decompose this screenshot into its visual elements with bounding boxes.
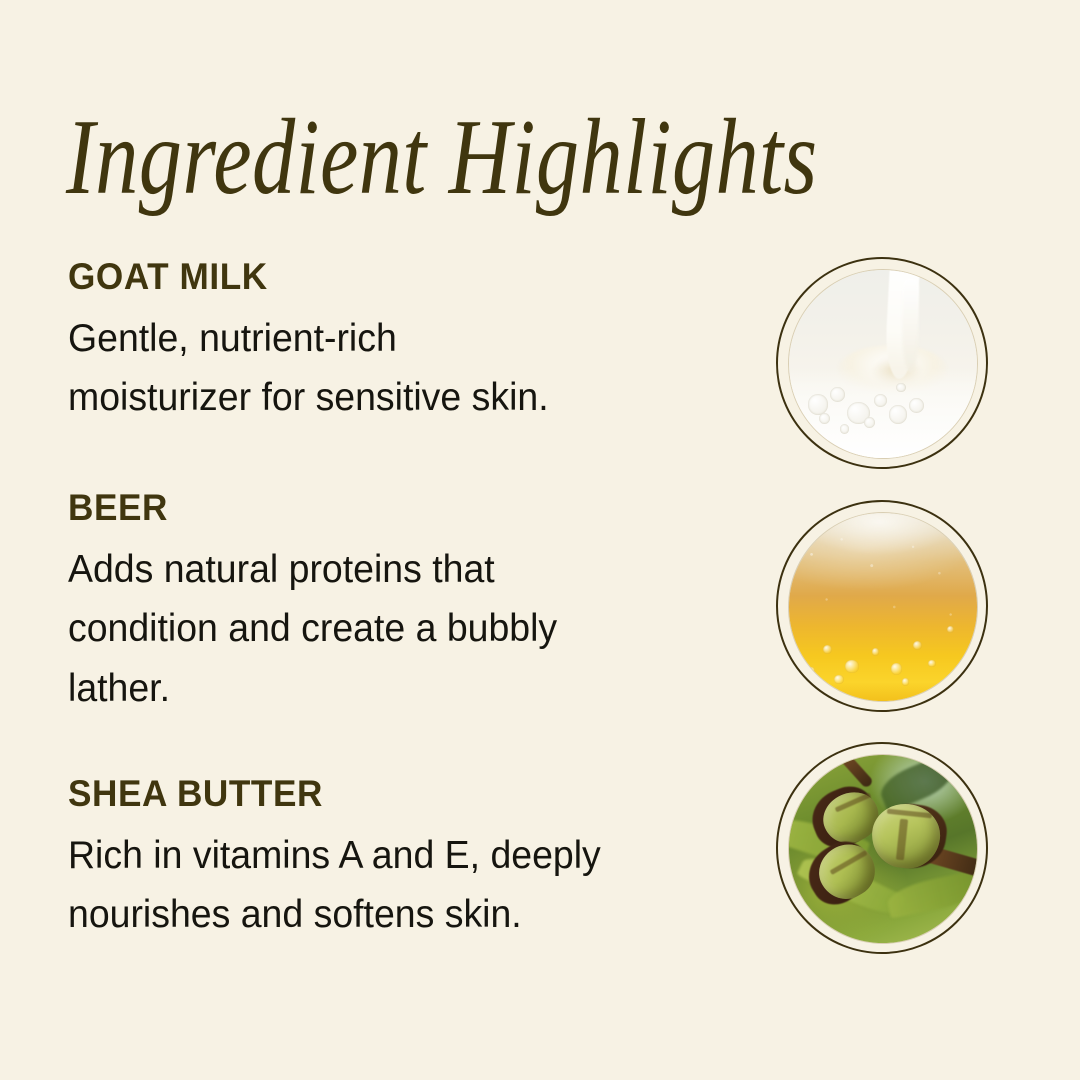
ingredient-description-goat-milk: Gentle, nutrient-rich moisturizer for se… xyxy=(68,309,759,428)
ingredient-heading-goat-milk: GOAT MILK xyxy=(68,256,752,298)
ingredient-heading-shea-butter: SHEA BUTTER xyxy=(68,773,752,815)
ingredient-section-beer: BEER Adds natural proteins that conditio… xyxy=(68,487,788,718)
beer-artwork xyxy=(789,513,977,701)
ingredient-section-shea-butter: SHEA BUTTER Rich in vitamins A and E, de… xyxy=(68,773,788,945)
ingredient-highlights-poster: Ingredient Highlights GOAT MILK Gentle, … xyxy=(0,0,1080,1080)
beer-texture xyxy=(789,513,977,701)
ingredient-section-goat-milk: GOAT MILK Gentle, nutrient-rich moisturi… xyxy=(68,256,788,428)
description-line: Gentle, nutrient-rich xyxy=(68,309,759,368)
shea-artwork xyxy=(789,755,977,943)
beer-photo-ring xyxy=(776,500,988,712)
description-line: nourishes and softens skin. xyxy=(68,885,759,944)
milk-artwork xyxy=(789,270,977,458)
page-title: Ingredient Highlights xyxy=(66,104,786,212)
ingredient-description-beer: Adds natural proteins that condition and… xyxy=(68,540,759,718)
description-line: Adds natural proteins that xyxy=(68,540,759,599)
milk-pour-stream-secondary xyxy=(902,278,919,372)
shea-nuts-photo-ring xyxy=(776,742,988,954)
shea-nuts-photo xyxy=(789,755,977,943)
ingredient-heading-beer: BEER xyxy=(68,487,752,529)
goat-milk-photo-ring xyxy=(776,257,988,469)
goat-milk-photo xyxy=(789,270,977,458)
ingredient-description-shea-butter: Rich in vitamins A and E, deeply nourish… xyxy=(68,826,759,945)
description-line: moisturizer for sensitive skin. xyxy=(68,368,759,427)
description-line: condition and create a bubbly xyxy=(68,599,759,658)
description-line: Rich in vitamins A and E, deeply xyxy=(68,826,759,885)
beer-photo xyxy=(789,513,977,701)
description-line: lather. xyxy=(68,659,759,718)
